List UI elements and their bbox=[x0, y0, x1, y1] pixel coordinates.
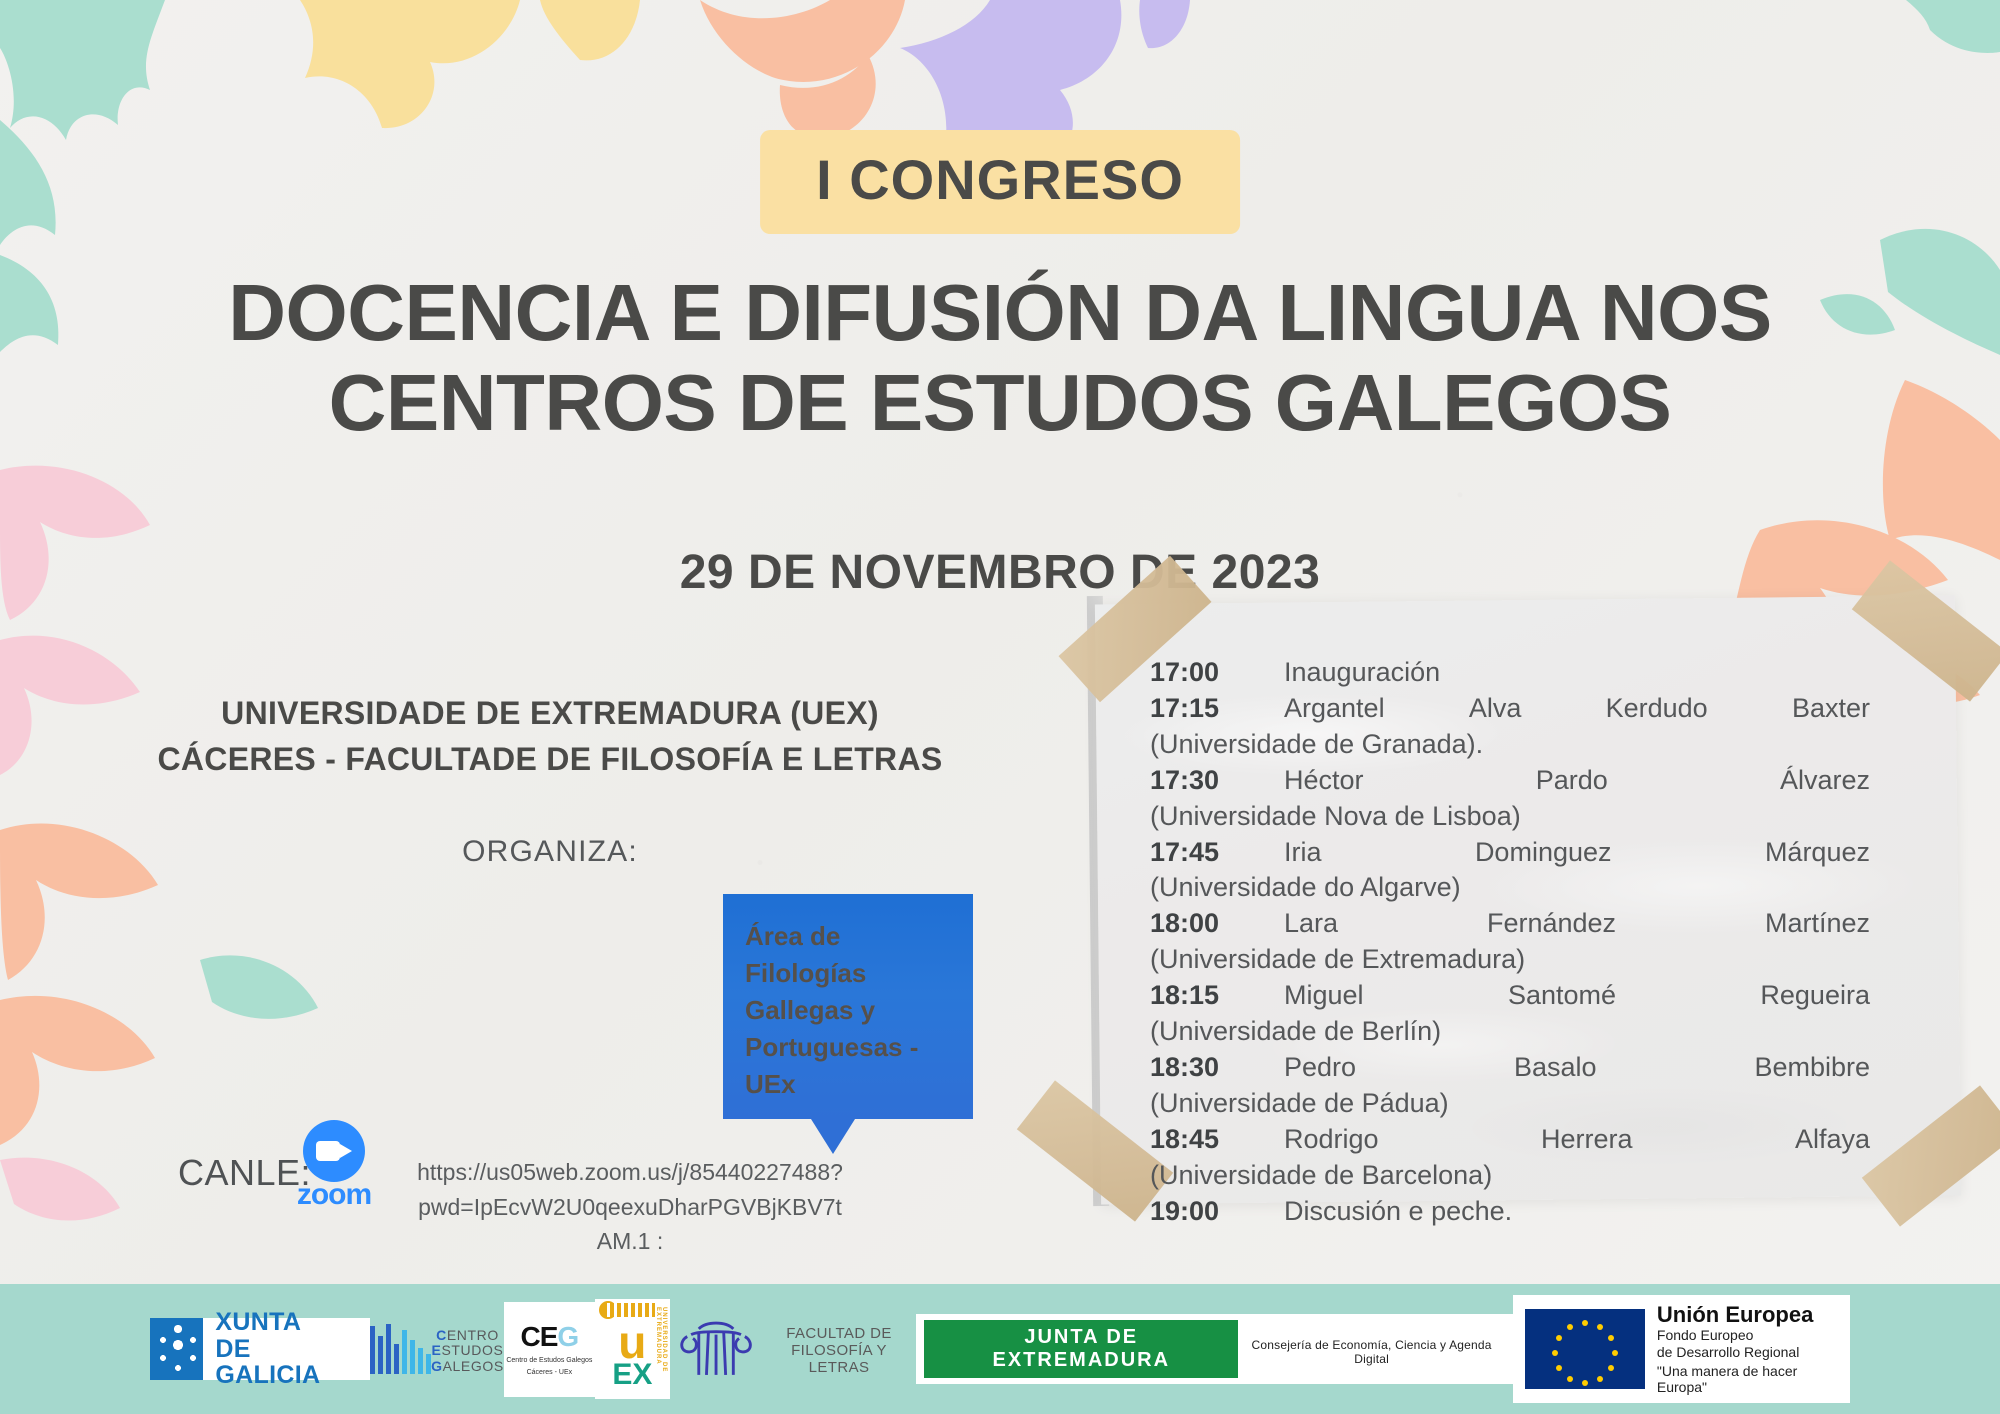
schedule-speaker: HéctorPardoÁlvarez bbox=[1246, 763, 1870, 799]
event-date: 29 DE NOVEMBRO DE 2023 bbox=[0, 545, 2000, 600]
congress-badge: I CONGRESO bbox=[760, 130, 1240, 234]
schedule-speaker: IriaDominguezMárquez bbox=[1246, 835, 1870, 871]
ceg-caption-1: Centro de Estudos Galegos bbox=[506, 1357, 592, 1365]
schedule-speaker: Inauguración bbox=[1246, 655, 1870, 691]
speaker-name-part: Miguel bbox=[1284, 978, 1364, 1014]
schedule-speaker: PedroBasaloBembibre bbox=[1246, 1050, 1870, 1086]
venue-line-1: UNIVERSIDADE DE EXTREMADURA (UEX) bbox=[0, 690, 1100, 736]
venue-line-2: CÁCERES - FACULTADE DE FILOSOFÍA E LETRA… bbox=[0, 736, 1100, 782]
page-title: DOCENCIA E DIFUSIÓN DA LINGUA NOS CENTRO… bbox=[0, 268, 2000, 447]
schedule-time: 17:00 bbox=[1150, 655, 1246, 691]
ceg-e: E bbox=[432, 1342, 442, 1358]
speaker-name-part: Herrera bbox=[1541, 1122, 1633, 1158]
schedule-time: 19:00 bbox=[1150, 1194, 1246, 1230]
speaker-name-part: Kerdudo bbox=[1606, 691, 1708, 727]
uex-u: u bbox=[618, 1324, 646, 1362]
schedule-row: 17:45IriaDominguezMárquez bbox=[1150, 835, 1870, 871]
facultad-line-2: FILOSOFÍA Y LETRAS bbox=[762, 1342, 916, 1377]
speaker-name-part: Pedro bbox=[1284, 1050, 1356, 1086]
poster-canvas: I CONGRESO DOCENCIA E DIFUSIÓN DA LINGUA… bbox=[0, 0, 2000, 1414]
ionic-column-icon bbox=[670, 1318, 762, 1380]
ceg-caption-2: Cáceres - UEx bbox=[527, 1369, 573, 1377]
speaker-name-part: Iria bbox=[1284, 835, 1322, 871]
video-camera-icon bbox=[303, 1120, 365, 1182]
schedule-university: (Universidade de Barcelona) bbox=[1150, 1158, 1870, 1194]
ceg-g-light: G bbox=[557, 1321, 578, 1352]
organiza-bubble-text: Área de Filologías Gallegas y Portuguesa… bbox=[745, 918, 951, 1103]
schedule-university: (Universidade do Algarve) bbox=[1150, 870, 1870, 906]
title-line-2: CENTROS DE ESTUDOS GALEGOS bbox=[80, 358, 1920, 448]
schedule-time: 18:30 bbox=[1150, 1050, 1246, 1086]
schedule-list: 17:00Inauguración17:15ArgantelAlvaKerdud… bbox=[1150, 655, 1870, 1230]
speaker-name-part: Alfaya bbox=[1795, 1122, 1870, 1158]
uex-ex: EX bbox=[612, 1362, 652, 1388]
schedule-speaker: MiguelSantoméRegueira bbox=[1246, 978, 1870, 1014]
schedule-row: 18:15MiguelSantoméRegueira bbox=[1150, 978, 1870, 1014]
logo-union-europea: Unión Europea Fondo Europeo de Desarroll… bbox=[1513, 1295, 1850, 1403]
schedule-row: 18:45RodrigoHerreraAlfaya bbox=[1150, 1122, 1870, 1158]
speaker-name-part: Lara bbox=[1284, 906, 1338, 942]
ceg-ce: CE bbox=[521, 1321, 558, 1352]
schedule-row: 17:30HéctorPardoÁlvarez bbox=[1150, 763, 1870, 799]
zoom-url-line-2: pwd=IpEcvW2U0qeexuDharPGVBjKBV7tAM.1 : bbox=[418, 1194, 842, 1255]
schedule-university: (Universidade de Berlín) bbox=[1150, 1014, 1870, 1050]
logo-centro-estudos-galegos: CENTRO ESTUDOS GALEGOS bbox=[370, 1324, 504, 1374]
uex-side-text: UNIVERSIDAD DE EXTREMADURA bbox=[655, 1307, 667, 1399]
schedule-row: 17:15ArgantelAlvaKerdudoBaxter bbox=[1150, 691, 1870, 727]
speaker-name-part: Baxter bbox=[1792, 691, 1870, 727]
ceg-estudos: STUDOS bbox=[441, 1342, 503, 1358]
ceg-galegos: ALEGOS bbox=[443, 1358, 504, 1374]
ceg-bars-text: CENTRO ESTUDOS GALEGOS bbox=[431, 1328, 504, 1373]
speaker-name-part: Santomé bbox=[1508, 978, 1616, 1014]
zoom-wordmark: zoom bbox=[290, 1178, 378, 1212]
schedule-speaker: ArgantelAlvaKerdudoBaxter bbox=[1246, 691, 1870, 727]
eu-text: Unión Europea Fondo Europeo de Desarroll… bbox=[1657, 1303, 1838, 1395]
schedule-time: 17:30 bbox=[1150, 763, 1246, 799]
speaker-name-part: Álvarez bbox=[1780, 763, 1870, 799]
sponsor-footer: XUNTA DE GALICIA CENTRO ESTUDOS GALEGOS … bbox=[0, 1284, 2000, 1414]
schedule-speaker: RodrigoHerreraAlfaya bbox=[1246, 1122, 1870, 1158]
title-line-1: DOCENCIA E DIFUSIÓN DA LINGUA NOS bbox=[80, 268, 1920, 358]
galicia-chalice-icon bbox=[150, 1318, 203, 1380]
schedule-time: 18:15 bbox=[1150, 978, 1246, 1014]
ceg-centro: ENTRO bbox=[447, 1327, 499, 1343]
schedule-time: 18:45 bbox=[1150, 1122, 1246, 1158]
schedule-row: 18:00LaraFernándezMartínez bbox=[1150, 906, 1870, 942]
skyline-bars-icon bbox=[370, 1324, 431, 1374]
eu-title: Unión Europea bbox=[1657, 1303, 1838, 1327]
eu-line-1: Fondo Europeo bbox=[1657, 1327, 1838, 1344]
speaker-name-part: Argantel bbox=[1284, 691, 1385, 727]
schedule-university: (Universidade de Extremadura) bbox=[1150, 942, 1870, 978]
zoom-url-line-1: https://us05web.zoom.us/j/85440227488? bbox=[417, 1159, 843, 1185]
eu-slogan: "Una manera de hacer Europa" bbox=[1657, 1363, 1838, 1395]
junta-title: JUNTA DE EXTREMADURA bbox=[924, 1320, 1238, 1378]
schedule-university: (Universidade de Granada). bbox=[1150, 727, 1870, 763]
logo-xunta-de-galicia: XUNTA DE GALICIA bbox=[150, 1318, 370, 1380]
venue-block: UNIVERSIDADE DE EXTREMADURA (UEX) CÁCERE… bbox=[0, 690, 1100, 783]
speaker-name-part: Martínez bbox=[1765, 906, 1870, 942]
xunta-line-1: XUNTA bbox=[215, 1309, 356, 1336]
organiza-bubble-body: Área de Filologías Gallegas y Portuguesa… bbox=[723, 894, 973, 1119]
organiza-bubble: Área de Filologías Gallegas y Portuguesa… bbox=[723, 894, 973, 1119]
logo-facultad-filosofia-letras: FACULTAD DE FILOSOFÍA Y LETRAS bbox=[670, 1318, 916, 1380]
xunta-text: XUNTA DE GALICIA bbox=[203, 1309, 370, 1389]
eu-line-2: de Desarrollo Regional bbox=[1657, 1344, 1838, 1361]
eu-flag-icon bbox=[1525, 1309, 1645, 1389]
ceg-c: C bbox=[436, 1327, 447, 1343]
bubble-tail bbox=[811, 1119, 855, 1154]
congress-badge-label: I CONGRESO bbox=[816, 152, 1184, 208]
speaker-name-part: Rodrigo bbox=[1284, 1122, 1379, 1158]
ceg-monogram: CEG bbox=[521, 1321, 579, 1353]
speaker-name-part: Pardo bbox=[1536, 763, 1608, 799]
speaker-name-part: Discusión e peche. bbox=[1284, 1194, 1512, 1230]
speaker-name-part: Dominguez bbox=[1475, 835, 1612, 871]
organiza-label: ORGANIZA: bbox=[0, 835, 1100, 869]
schedule-time: 17:15 bbox=[1150, 691, 1246, 727]
zoom-meeting-link[interactable]: https://us05web.zoom.us/j/85440227488?pw… bbox=[415, 1155, 845, 1259]
schedule-row: 19:00Discusión e peche. bbox=[1150, 1194, 1870, 1230]
schedule-speaker: LaraFernándezMartínez bbox=[1246, 906, 1870, 942]
schedule-time: 18:00 bbox=[1150, 906, 1246, 942]
speaker-name-part: Bembibre bbox=[1754, 1050, 1870, 1086]
zoom-logo: zoom bbox=[290, 1120, 378, 1212]
speaker-name-part: Basalo bbox=[1514, 1050, 1597, 1086]
junta-subtitle: Consejería de Economía, Ciencia y Agenda… bbox=[1238, 1338, 1505, 1366]
schedule-university: (Universidade Nova de Lisboa) bbox=[1150, 799, 1870, 835]
logo-ceg-caceres: CEG Centro de Estudos Galegos Cáceres - … bbox=[504, 1302, 595, 1397]
speaker-name-part: Fernández bbox=[1487, 906, 1616, 942]
uex-capital-icon bbox=[603, 1303, 655, 1317]
speaker-name-part: Márquez bbox=[1765, 835, 1870, 871]
speaker-name-part: Regueira bbox=[1760, 978, 1870, 1014]
schedule-row: 18:30PedroBasaloBembibre bbox=[1150, 1050, 1870, 1086]
speaker-name-part: Alva bbox=[1469, 691, 1522, 727]
facultad-line-1: FACULTAD DE bbox=[762, 1325, 916, 1342]
speaker-name-part: Héctor bbox=[1284, 763, 1364, 799]
logo-junta-de-extremadura: JUNTA DE EXTREMADURA Consejería de Econo… bbox=[916, 1314, 1513, 1384]
speaker-name-part: Inauguración bbox=[1284, 655, 1440, 691]
facultad-text: FACULTAD DE FILOSOFÍA Y LETRAS bbox=[762, 1325, 916, 1377]
xunta-line-2: DE GALICIA bbox=[215, 1336, 356, 1389]
ceg-g: G bbox=[431, 1358, 443, 1374]
schedule-speaker: Discusión e peche. bbox=[1246, 1194, 1870, 1230]
schedule-row: 17:00Inauguración bbox=[1150, 655, 1870, 691]
logo-uex: u EX UNIVERSIDAD DE EXTREMADURA bbox=[595, 1299, 670, 1399]
schedule-university: (Universidade de Pádua) bbox=[1150, 1086, 1870, 1122]
schedule-time: 17:45 bbox=[1150, 835, 1246, 871]
